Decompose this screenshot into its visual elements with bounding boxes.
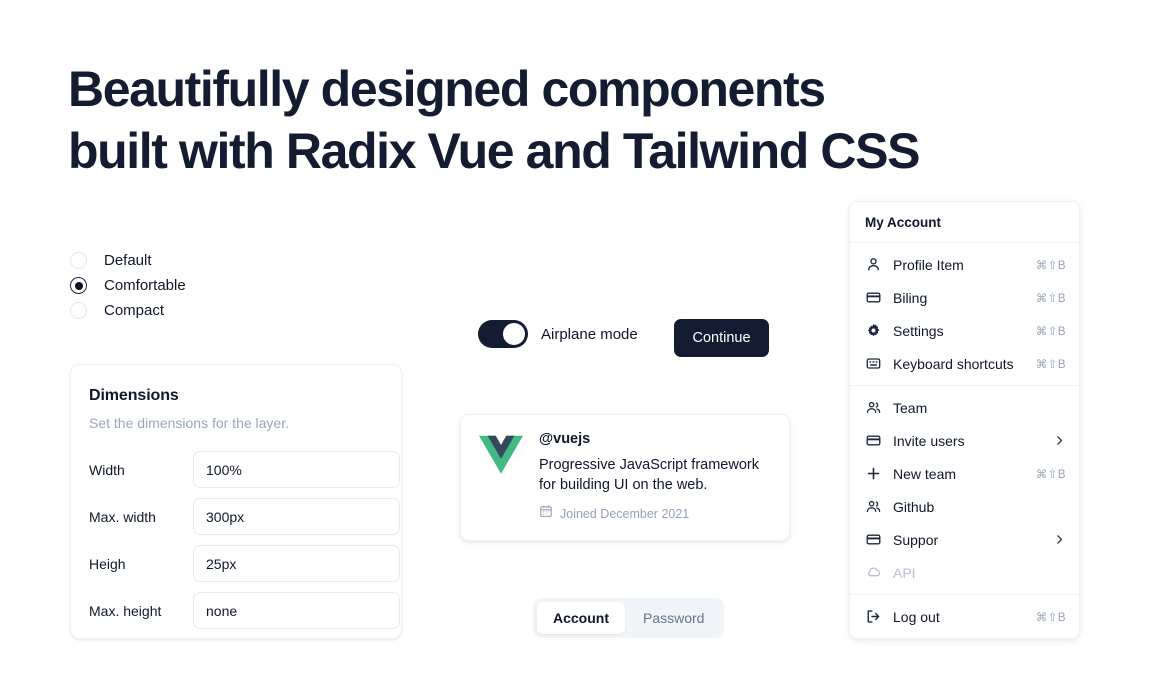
switch-knob [503, 323, 525, 345]
field-label: Max. width [89, 509, 193, 525]
vue-description: Progressive JavaScript framework for bui… [539, 455, 771, 495]
menu-item-api: API [850, 556, 1079, 589]
menu-item-label: Settings [893, 323, 1024, 339]
dimensions-subtitle: Set the dimensions for the layer. [89, 415, 381, 431]
width-input[interactable] [193, 451, 400, 488]
radio-label: Compact [104, 302, 164, 319]
menu-group-session: Log out ⌘⇧B [850, 595, 1079, 638]
menu-item-shortcut: ⌘⇧B [1036, 324, 1066, 338]
gear-icon [865, 323, 881, 339]
plus-icon [865, 466, 881, 482]
vue-handle: @vuejs [539, 431, 771, 447]
menu-item-label: Profile Item [893, 257, 1024, 273]
joined-text: Joined December 2021 [560, 507, 689, 521]
account-dropdown-menu: My Account Profile Item ⌘⇧B Biling [849, 201, 1080, 639]
radio-label: Default [104, 252, 152, 269]
page-title-line-1: Beautifully designed components [68, 61, 825, 117]
radio-circle-selected-icon[interactable] [70, 277, 87, 294]
field-row-width: Width [89, 451, 381, 488]
continue-button[interactable]: Continue [674, 319, 769, 357]
credit-card-icon [865, 290, 881, 306]
chevron-right-icon [1053, 434, 1066, 447]
menu-label: My Account [850, 202, 1079, 242]
menu-item-log-out[interactable]: Log out ⌘⇧B [850, 600, 1079, 633]
hover-card-body: @vuejs Progressive JavaScript framework … [539, 431, 771, 524]
menu-item-profile[interactable]: Profile Item ⌘⇧B [850, 248, 1079, 281]
height-input[interactable] [193, 545, 400, 582]
menu-group-account: Profile Item ⌘⇧B Biling ⌘⇧B [850, 243, 1079, 385]
radio-circle-icon[interactable] [70, 302, 87, 319]
chevron-right-icon [1053, 533, 1066, 546]
page-title-line-2: built with Radix Vue and Tailwind CSS [68, 120, 1028, 182]
radio-option-comfortable[interactable]: Comfortable [70, 273, 186, 298]
radio-option-compact[interactable]: Compact [70, 298, 186, 323]
airplane-mode-switch[interactable] [478, 320, 528, 348]
credit-card-icon [865, 433, 881, 449]
menu-item-shortcut: ⌘⇧B [1036, 467, 1066, 481]
field-row-height: Heigh [89, 545, 381, 582]
keyboard-icon [865, 356, 881, 372]
menu-item-shortcut: ⌘⇧B [1036, 258, 1066, 272]
users-icon [865, 499, 881, 515]
menu-item-label: Keyboard shortcuts [893, 356, 1024, 372]
menu-item-support[interactable]: Suppor [850, 523, 1079, 556]
cloud-icon [865, 565, 881, 581]
settings-tabs: Account Password [533, 598, 724, 638]
vue-logo-icon [479, 434, 523, 474]
tab-password[interactable]: Password [627, 602, 720, 634]
vue-hover-card: @vuejs Progressive JavaScript framework … [460, 414, 790, 541]
airplane-mode-label: Airplane mode [541, 326, 638, 343]
user-icon [865, 257, 881, 273]
menu-item-label: Github [893, 499, 1066, 515]
field-row-max-width: Max. width [89, 498, 381, 535]
menu-item-shortcut: ⌘⇧B [1036, 610, 1066, 624]
field-label: Width [89, 462, 193, 478]
density-radio-group: Default Comfortable Compact [70, 248, 186, 323]
radio-label: Comfortable [104, 277, 186, 294]
field-row-max-height: Max. height [89, 592, 381, 629]
menu-item-github[interactable]: Github [850, 490, 1079, 523]
menu-item-label: API [893, 565, 1066, 581]
page-title: Beautifully designed components built wi… [68, 58, 1028, 182]
menu-group-team: Team Invite users New team ⌘⇧B [850, 386, 1079, 594]
menu-item-label: Invite users [893, 433, 1041, 449]
dimensions-fields: Width Max. width Heigh Max. height [89, 451, 381, 629]
menu-item-label: Team [893, 400, 1066, 416]
airplane-mode-row: Airplane mode [478, 320, 638, 348]
field-label: Heigh [89, 556, 193, 572]
field-label: Max. height [89, 603, 193, 619]
users-icon [865, 400, 881, 416]
calendar-icon [539, 504, 553, 523]
menu-item-label: Biling [893, 290, 1024, 306]
menu-item-keyboard-shortcuts[interactable]: Keyboard shortcuts ⌘⇧B [850, 347, 1079, 380]
credit-card-icon [865, 532, 881, 548]
menu-item-new-team[interactable]: New team ⌘⇧B [850, 457, 1079, 490]
max-width-input[interactable] [193, 498, 400, 535]
menu-item-shortcut: ⌘⇧B [1036, 357, 1066, 371]
joined-row: Joined December 2021 [539, 504, 771, 523]
menu-item-settings[interactable]: Settings ⌘⇧B [850, 314, 1079, 347]
radio-option-default[interactable]: Default [70, 248, 186, 273]
menu-item-label: Suppor [893, 532, 1041, 548]
menu-item-label: Log out [893, 609, 1024, 625]
menu-item-team[interactable]: Team [850, 391, 1079, 424]
menu-item-shortcut: ⌘⇧B [1036, 291, 1066, 305]
radio-circle-icon[interactable] [70, 252, 87, 269]
max-height-input[interactable] [193, 592, 400, 629]
tab-account[interactable]: Account [537, 602, 625, 634]
page-root: Beautifully designed components built wi… [0, 0, 1152, 700]
dimensions-card: Dimensions Set the dimensions for the la… [70, 364, 402, 639]
menu-item-label: New team [893, 466, 1024, 482]
dimensions-title: Dimensions [89, 387, 381, 405]
menu-item-invite-users[interactable]: Invite users [850, 424, 1079, 457]
logout-icon [865, 609, 881, 625]
menu-item-billing[interactable]: Biling ⌘⇧B [850, 281, 1079, 314]
